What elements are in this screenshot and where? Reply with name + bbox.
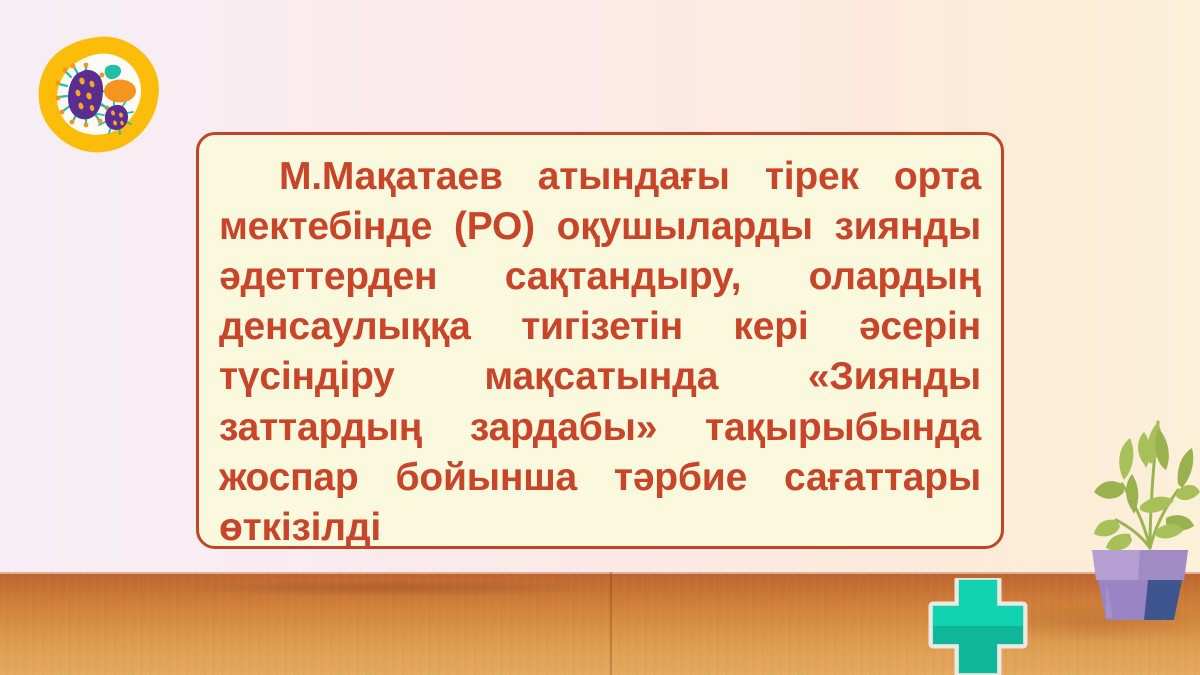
floor-plank-seam <box>610 572 612 675</box>
floor-grain-knot <box>180 580 600 596</box>
cell-germ-icon <box>36 34 162 156</box>
medical-cross-icon <box>912 578 1044 675</box>
panel-body-text: М.Мақатаев атындағы тірек орта мектебінд… <box>219 152 981 553</box>
slide-canvas: М.Мақатаев атындағы тірек орта мектебінд… <box>0 0 1200 675</box>
potted-plant <box>1078 398 1200 623</box>
content-text-panel: М.Мақатаев атындағы тірек орта мектебінд… <box>196 132 1004 549</box>
